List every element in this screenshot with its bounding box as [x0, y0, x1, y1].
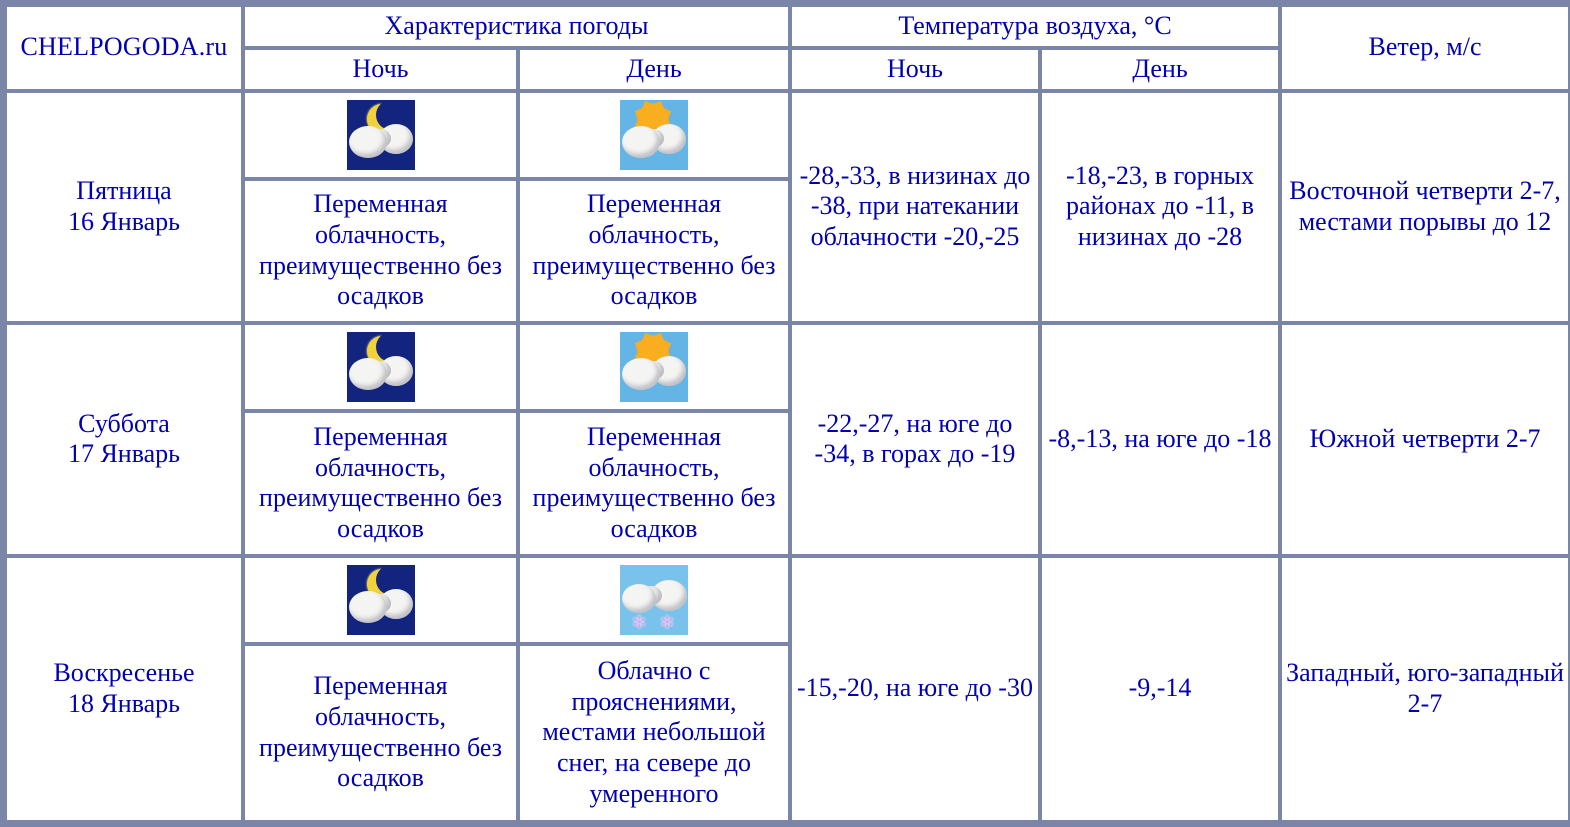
- night-icon-cell: [243, 556, 518, 644]
- clouds-snow-icon: ✻ ✻: [620, 565, 688, 635]
- cloud-shape: [349, 358, 387, 390]
- temp-night-cell: -15,-20, на юге до -30: [790, 556, 1040, 822]
- header-wind-group: Ветер, м/с: [1280, 5, 1570, 91]
- temp-day-cell: -9,-14: [1040, 556, 1280, 822]
- day-date: 17 Январь: [11, 439, 237, 470]
- day-weekday: Суббота: [11, 409, 237, 440]
- moon-clouds-icon: [347, 565, 415, 635]
- header-weather-day: День: [518, 48, 790, 91]
- day-icon-cell: [518, 323, 790, 411]
- header-temp-night: Ночь: [790, 48, 1040, 91]
- day-weekday: Воскресенье: [11, 658, 237, 689]
- table-row: Суббота 17 Январь -22,-27,: [5, 323, 1570, 411]
- sun-clouds-icon: [620, 100, 688, 170]
- wind-cell: Южной четверти 2-7: [1280, 323, 1570, 556]
- header-temperature-group: Температура воздуха, °C: [790, 5, 1280, 48]
- temp-night-cell: -28,-33, в низинах до -38, при натекании…: [790, 91, 1040, 324]
- moon-clouds-icon: [347, 100, 415, 170]
- day-weekday: Пятница: [11, 176, 237, 207]
- night-description-cell: Переменная облачность, преимущественно б…: [243, 179, 518, 324]
- day-icon-cell: [518, 91, 790, 179]
- night-icon-cell: [243, 323, 518, 411]
- cloud-shape: [622, 584, 656, 613]
- snowflake-shape: ✻: [632, 614, 646, 631]
- day-label-cell: Воскресенье 18 Январь: [5, 556, 243, 822]
- cloud-shape: [349, 591, 387, 623]
- table-row: Пятница 16 Январь -28,-33,: [5, 91, 1570, 179]
- temp-day-cell: -8,-13, на юге до -18: [1040, 323, 1280, 556]
- moon-clouds-icon: [347, 332, 415, 402]
- wind-cell: Восточной четверти 2-7, местами порывы д…: [1280, 91, 1570, 324]
- header-weather-group: Характеристика погоды: [243, 5, 790, 48]
- header-weather-night: Ночь: [243, 48, 518, 91]
- day-date: 16 Январь: [11, 207, 237, 238]
- header-temp-day: День: [1040, 48, 1280, 91]
- header-row-groups: CHELPOGODA.ru Характеристика погоды Темп…: [5, 5, 1570, 48]
- sun-clouds-icon: [620, 332, 688, 402]
- snowflake-shape: ✻: [660, 614, 674, 631]
- weather-forecast-table: CHELPOGODA.ru Характеристика погоды Темп…: [0, 0, 1570, 827]
- night-description-cell: Переменная облачность, преимущественно б…: [243, 644, 518, 822]
- temp-day-cell: -18,-23, в горных районах до -11, в низи…: [1040, 91, 1280, 324]
- night-icon-cell: [243, 91, 518, 179]
- brand-logo[interactable]: CHELPOGODA.ru: [5, 5, 243, 91]
- day-description-cell: Переменная облачность, преимущественно б…: [518, 179, 790, 324]
- wind-cell: Западный, юго-западный 2-7: [1280, 556, 1570, 822]
- day-description-cell: Переменная облачность, преимущественно б…: [518, 411, 790, 556]
- cloud-shape: [349, 126, 387, 158]
- day-date: 18 Январь: [11, 689, 237, 720]
- night-description-cell: Переменная облачность, преимущественно б…: [243, 411, 518, 556]
- table-row: Воскресенье 18 Январь ✻ ✻: [5, 556, 1570, 644]
- day-label-cell: Суббота 17 Январь: [5, 323, 243, 556]
- cloud-shape: [622, 358, 660, 390]
- cloud-shape: [622, 126, 660, 158]
- day-icon-cell: ✻ ✻: [518, 556, 790, 644]
- temp-night-cell: -22,-27, на юге до -34, в горах до -19: [790, 323, 1040, 556]
- day-label-cell: Пятница 16 Январь: [5, 91, 243, 324]
- day-description-cell: Облачно с прояснениями, местами небольшо…: [518, 644, 790, 822]
